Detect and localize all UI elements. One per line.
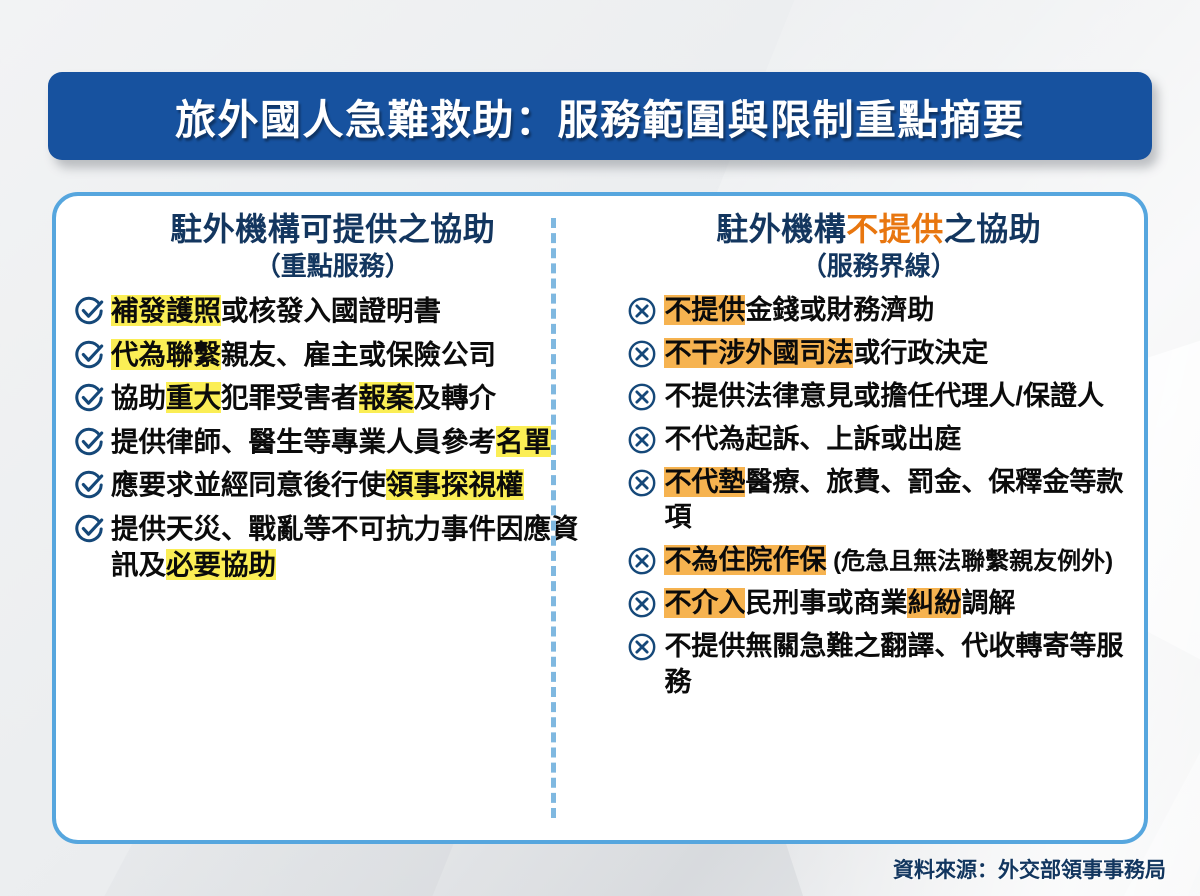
plain-phrase: 金錢或財務濟助 [745,295,934,325]
check-circle-icon [74,514,104,544]
x-circle-icon [627,339,657,369]
right-item-list: 不提供金錢或財務濟助不干涉外國司法或行政決定不提供法律意見或擔任代理人/保證人不… [627,293,1130,701]
check-circle-icon [74,383,104,413]
check-circle-icon [74,427,104,457]
plain-phrase: 不提供法律意見或擔任代理人/保證人 [664,381,1104,411]
list-item-text: 不代墊醫療、旅費、罰金、保釋金等款項 [664,465,1130,537]
list-item-text: 不提供無關急難之翻譯、代收轉寄等服務 [664,629,1130,701]
list-item-text: 應要求並經同意後行使領事探視權 [111,467,524,504]
left-heading-main: 駐外機構可提供之協助 [74,212,591,248]
column-services-provided: 駐外機構可提供之協助 （重點服務） 補發護照或核發入國證明書代為聯繫親友、雇主或… [56,196,605,840]
column-divider [551,218,556,818]
list-item-text: 不代為起訴、上訴或出庭 [664,422,961,458]
highlighted-phrase: 報案 [359,382,414,413]
highlighted-phrase: 領事探視權 [386,469,524,500]
list-item: 不提供金錢或財務濟助 [627,293,1130,329]
plain-phrase: 不提供無關急難之翻譯、代收轉寄等服務 [664,631,1123,697]
column-services-not-provided: 駐外機構不提供之協助 （服務界線） 不提供金錢或財務濟助不干涉外國司法或行政決定… [605,196,1144,840]
plain-phrase: 及轉介 [414,382,497,413]
check-circle-icon [74,470,104,500]
list-item: 不提供法律意見或擔任代理人/保證人 [627,379,1130,415]
list-item: 不代為起訴、上訴或出庭 [627,422,1130,458]
plain-phrase: (危急且無法聯繫親友例外) [826,548,1113,575]
left-item-list: 補發護照或核發入國證明書代為聯繫親友、雇主或保險公司協助重大犯罪受害者報案及轉介… [74,293,591,584]
highlighted-phrase: 重大 [166,382,221,413]
list-item-text: 不提供金錢或財務濟助 [664,293,934,329]
list-item-text: 不提供法律意見或擔任代理人/保證人 [664,379,1104,415]
x-circle-icon [627,589,657,619]
x-circle-icon [627,425,657,455]
title-banner: 旅外國人急難救助：服務範圍與限制重點摘要 [48,72,1152,160]
list-item: 提供天災、戰亂等不可抗力事件因應資訊及必要協助 [74,511,591,584]
right-heading-main: 駐外機構不提供之協助 [627,212,1130,248]
check-circle-icon [74,383,104,413]
x-circle-icon [627,468,657,498]
check-circle-icon [74,470,104,500]
check-circle-icon [74,427,104,457]
left-column-heading: 駐外機構可提供之協助 （重點服務） [74,212,591,281]
list-item: 不干涉外國司法或行政決定 [627,336,1130,372]
highlighted-phrase: 代為聯繫 [111,339,221,370]
content-card: 駐外機構可提供之協助 （重點服務） 補發護照或核發入國證明書代為聯繫親友、雇主或… [52,192,1148,844]
list-item-text: 不干涉外國司法或行政決定 [664,336,988,372]
plain-phrase: 親友、雇主或保險公司 [221,339,496,370]
plain-phrase: 提供律師、醫生等專業人員參考 [111,426,496,457]
list-item-text: 提供天災、戰亂等不可抗力事件因應資訊及必要協助 [111,511,591,584]
x-circle-icon [627,546,657,576]
right-heading-suffix: 之協助 [944,211,1042,247]
plain-phrase: 犯罪受害者 [221,382,359,413]
list-item: 提供律師、醫生等專業人員參考名單 [74,424,591,461]
highlighted-phrase: 必要協助 [166,549,276,580]
check-circle-icon [74,296,104,326]
list-item: 代為聯繫親友、雇主或保險公司 [74,337,591,374]
check-circle-icon [74,514,104,544]
list-item: 不提供無關急難之翻譯、代收轉寄等服務 [627,629,1130,701]
x-circle-icon [627,382,657,412]
highlighted-phrase: 不提供 [664,295,745,325]
list-item-text: 協助重大犯罪受害者報案及轉介 [111,380,496,417]
source-credit: 資料來源：外交部領事事務局 [893,854,1166,884]
x-circle-icon [627,425,657,455]
plain-phrase: 不代為起訴、上訴或出庭 [664,424,961,454]
right-column-heading: 駐外機構不提供之協助 （服務界線） [627,212,1130,281]
plain-phrase: 或行政決定 [853,338,988,368]
right-heading-negative: 不提供 [846,211,944,247]
plain-phrase: 調解 [961,588,1015,618]
right-heading-prefix: 駐外機構 [716,211,846,247]
plain-phrase: 應要求並經同意後行使 [111,469,386,500]
highlighted-phrase: 不干涉外國司法 [664,338,853,368]
x-circle-icon [627,296,657,326]
page-title: 旅外國人急難救助：服務範圍與限制重點摘要 [175,86,1025,146]
x-circle-icon [627,468,657,498]
highlighted-phrase: 補發護照 [111,295,221,326]
x-circle-icon [627,296,657,326]
highlighted-phrase: 糾紛 [907,588,961,618]
x-circle-icon [627,632,657,662]
list-item: 應要求並經同意後行使領事探視權 [74,467,591,504]
highlighted-phrase: 不介入 [664,588,745,618]
x-circle-icon [627,339,657,369]
highlighted-phrase: 不代墊 [664,467,745,497]
list-item: 不代墊醫療、旅費、罰金、保釋金等款項 [627,465,1130,537]
list-item: 協助重大犯罪受害者報案及轉介 [74,380,591,417]
list-item: 不介入民刑事或商業糾紛調解 [627,586,1130,622]
list-item: 不為住院作保 (危急且無法聯繫親友例外) [627,543,1130,579]
check-circle-icon [74,340,104,370]
left-heading-sub: （重點服務） [74,252,591,281]
list-item: 補發護照或核發入國證明書 [74,293,591,330]
x-circle-icon [627,382,657,412]
check-circle-icon [74,296,104,326]
plain-phrase: 民刑事或商業 [745,588,907,618]
list-item-text: 補發護照或核發入國證明書 [111,293,441,330]
highlighted-phrase: 不為住院作保 [664,545,826,575]
x-circle-icon [627,546,657,576]
plain-phrase: 或核發入國證明書 [221,295,441,326]
list-item-text: 不為住院作保 (危急且無法聯繫親友例外) [664,543,1113,579]
plain-phrase: 協助 [111,382,166,413]
list-item-text: 代為聯繫親友、雇主或保險公司 [111,337,496,374]
list-item-text: 提供律師、醫生等專業人員參考名單 [111,424,551,461]
right-heading-sub: （服務界線） [627,252,1130,281]
check-circle-icon [74,340,104,370]
highlighted-phrase: 名單 [496,426,551,457]
x-circle-icon [627,632,657,662]
x-circle-icon [627,589,657,619]
list-item-text: 不介入民刑事或商業糾紛調解 [664,586,1015,622]
